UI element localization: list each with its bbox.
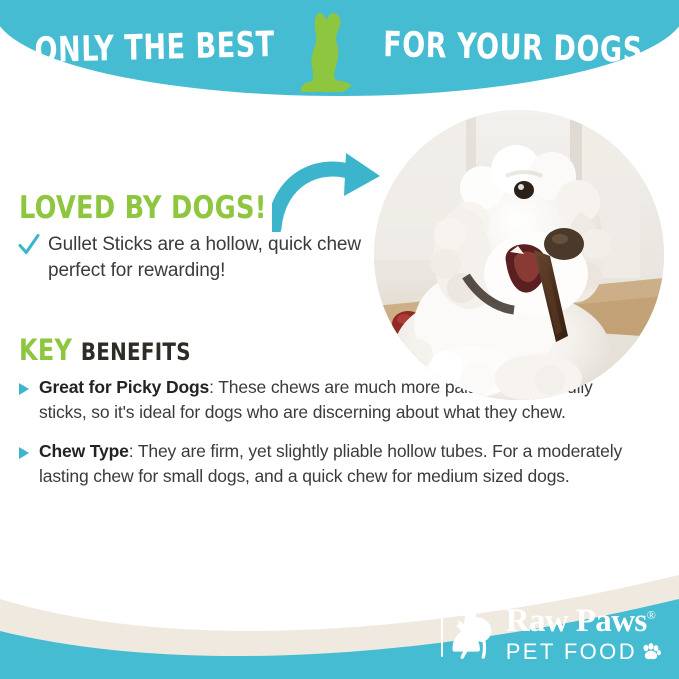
dog-cat-silhouette-icon [442, 603, 504, 665]
list-item: Chew Type: They are firm, yet slightly p… [18, 439, 632, 489]
check-icon [18, 232, 40, 258]
header-banner: ONLY THE BEST FOR YOUR DOGS [0, 0, 679, 96]
loved-by-dogs-row: Gullet Sticks are a hollow, quick chew p… [18, 232, 368, 284]
header-content: ONLY THE BEST FOR YOUR DOGS [0, 0, 679, 96]
triangle-bullet-icon [18, 382, 30, 396]
key-benefits-heading: KEY BENEFITS [19, 333, 191, 367]
triangle-bullet-icon [18, 446, 30, 460]
brand-tagline: PET FOOD [506, 641, 661, 663]
brand-name: Raw Paws® [506, 605, 661, 638]
benefit-title: Chew Type [39, 441, 129, 461]
brand-tagline-text: PET FOOD [506, 641, 637, 663]
dog-silhouette-icon [300, 8, 356, 92]
brand-name-text: Raw Paws [506, 603, 647, 639]
brand-wordmark: Raw Paws® PET FOOD [506, 605, 661, 663]
footer-banner: Raw Paws® PET FOOD [0, 549, 679, 679]
registered-mark: ® [647, 608, 656, 622]
key-benefits-heading-benefits: BENEFITS [81, 338, 191, 366]
key-benefits-heading-key: KEY [19, 333, 72, 367]
product-photo [374, 110, 664, 400]
benefit-title: Great for Picky Dogs [39, 377, 209, 397]
header-title-right: FOR YOUR DOGS [383, 28, 643, 69]
brand-logo[interactable]: Raw Paws® PET FOOD [442, 603, 661, 665]
benefit-text: Chew Type: They are firm, yet slightly p… [39, 439, 632, 489]
promo-infographic: ONLY THE BEST FOR YOUR DOGS LOVED BY DOG… [0, 0, 679, 679]
loved-by-dogs-body: Gullet Sticks are a hollow, quick chew p… [48, 232, 368, 284]
benefit-separator: : [209, 377, 218, 397]
header-title-left: ONLY THE BEST [34, 27, 275, 68]
benefit-separator: : [129, 441, 138, 461]
loved-by-dogs-heading: LOVED BY DOGS! [19, 190, 267, 226]
paw-print-icon [641, 643, 661, 661]
